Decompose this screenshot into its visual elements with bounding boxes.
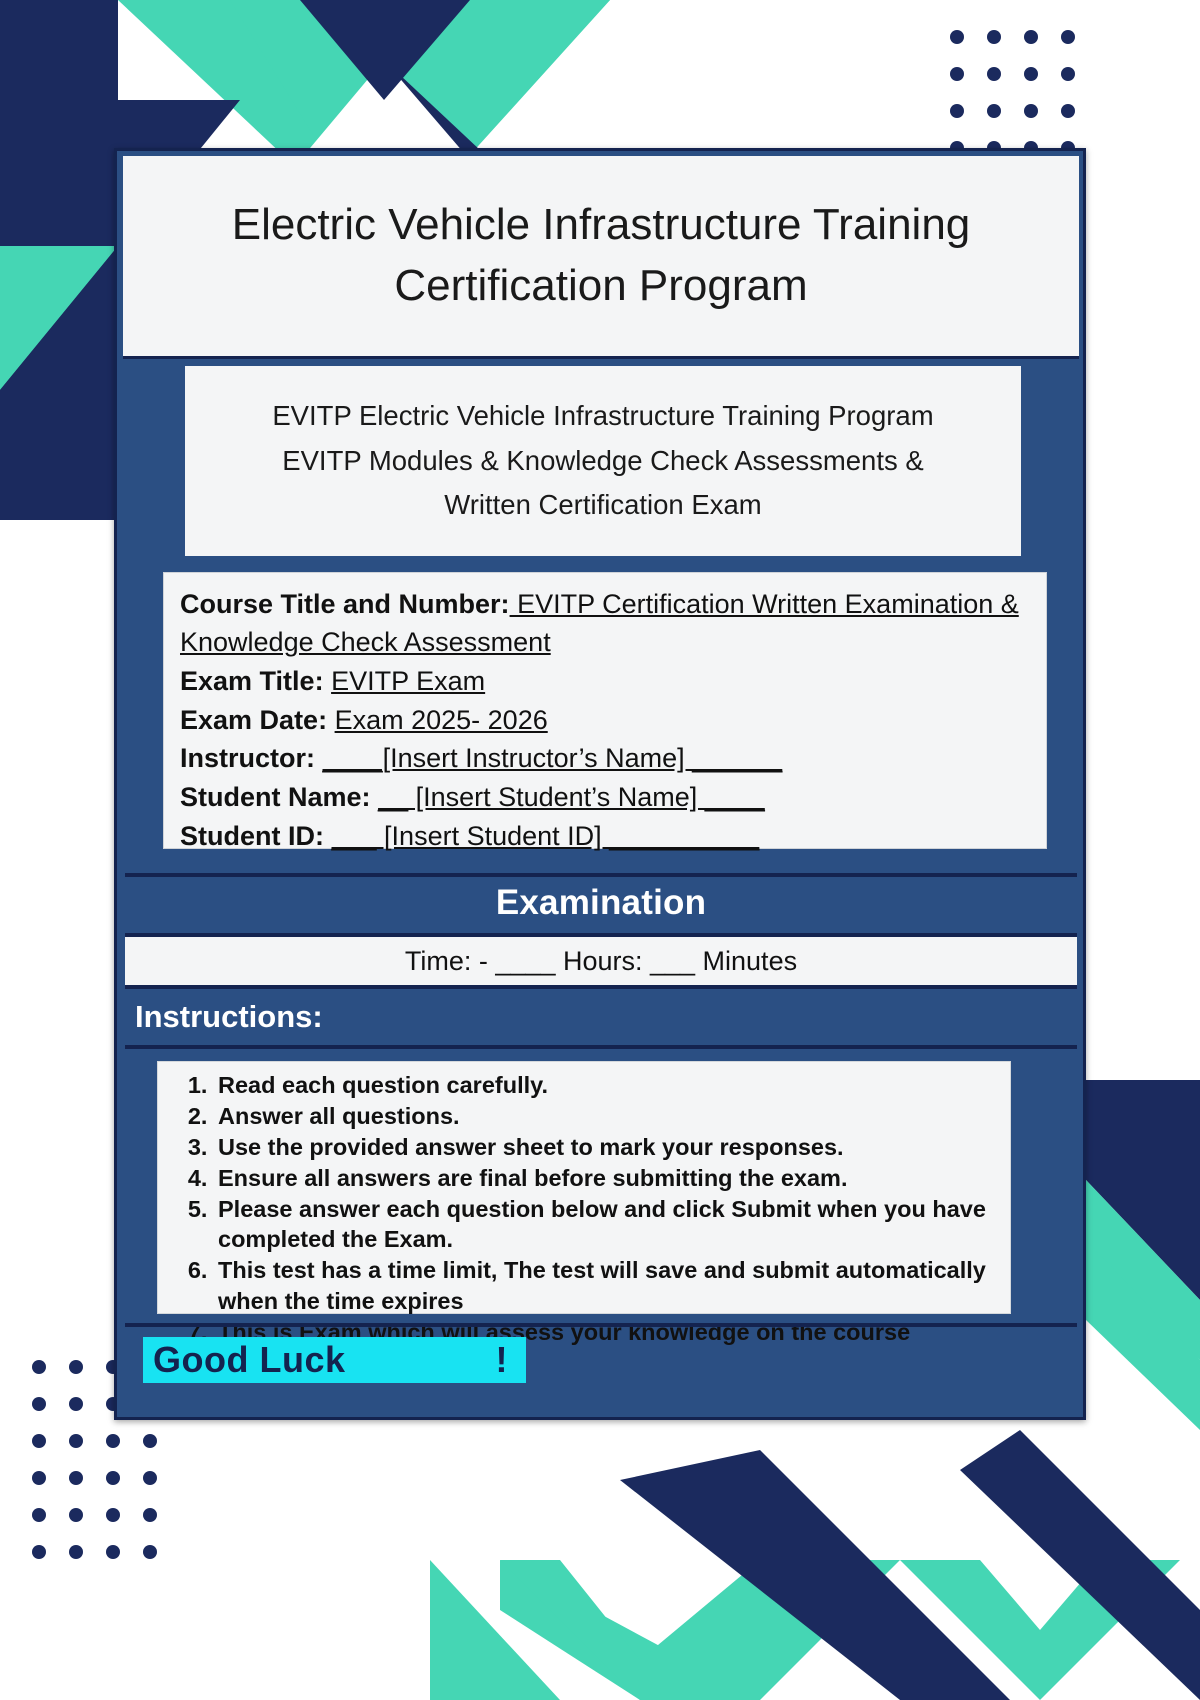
instructor-value: ____[Insert Instructor’s Name] ______ [323,743,783,773]
subtitle-line-2: EVITP Modules & Knowledge Check Assessme… [272,439,933,484]
exam-document-card: Electric Vehicle Infrastructure Training… [114,148,1086,1420]
student-id-row: Student ID: ___ [Insert Student ID] ____… [180,817,1030,856]
document-subtitle-panel: EVITP Electric Vehicle Infrastructure Tr… [185,366,1021,556]
exam-title-value: EVITP Exam [331,666,485,696]
list-item: Read each question carefully. [214,1070,996,1100]
list-item: Ensure all answers are final before subm… [214,1163,996,1193]
good-luck-highlight: Good Luck! [143,1337,526,1383]
exam-title-row: Exam Title: EVITP Exam [180,662,1030,701]
instructor-label: Instructor: [180,743,315,773]
student-id-value: ___ [Insert Student ID] __________ [332,821,760,851]
student-id-label: Student ID: [180,821,324,851]
list-item: Answer all questions. [214,1101,996,1131]
exam-time-row: Time: - ____ Hours: ___ Minutes [125,937,1077,989]
subtitle-line-1: EVITP Electric Vehicle Infrastructure Tr… [272,394,933,439]
examination-band: Examination [125,873,1077,937]
subtitle-block: EVITP Electric Vehicle Infrastructure Tr… [258,394,947,528]
list-item: Please answer each question below and cl… [214,1194,996,1254]
document-title-panel: Electric Vehicle Infrastructure Training… [123,156,1079,359]
exam-date-row: Exam Date: Exam 2025- 2026 [180,701,1030,740]
student-name-value: __ [Insert Student’s Name] ____ [378,782,765,812]
list-item: This test has a time limit, The test wil… [214,1255,996,1315]
exam-title-label: Exam Title: [180,666,324,696]
good-luck-exclamation: ! [346,1339,509,1380]
course-info-panel: Course Title and Number: EVITP Certifica… [163,572,1047,849]
instructor-row: Instructor: ____[Insert Instructor’s Nam… [180,739,1030,778]
good-luck-row: Good Luck! [125,1323,1077,1387]
student-name-label: Student Name: [180,782,371,812]
exam-time-text: Time: - ____ Hours: ___ Minutes [405,946,797,977]
page-title: Electric Vehicle Infrastructure Training… [123,195,1079,316]
student-name-row: Student Name: __ [Insert Student’s Name]… [180,778,1030,817]
instructions-heading: Instructions: [125,999,323,1035]
exam-date-label: Exam Date: [180,705,327,735]
list-item: Use the provided answer sheet to mark yo… [214,1132,996,1162]
course-title-label: Course Title and Number: [180,589,510,619]
instructions-heading-band: Instructions: [125,989,1077,1049]
course-title-and-number-row: Course Title and Number: EVITP Certifica… [180,585,1030,662]
instructions-panel: Read each question carefully. Answer all… [157,1061,1011,1314]
examination-heading: Examination [125,883,1077,923]
good-luck-text: Good Luck [153,1339,346,1380]
exam-date-value: Exam 2025- 2026 [335,705,548,735]
subtitle-line-3: Written Certification Exam [272,483,933,528]
